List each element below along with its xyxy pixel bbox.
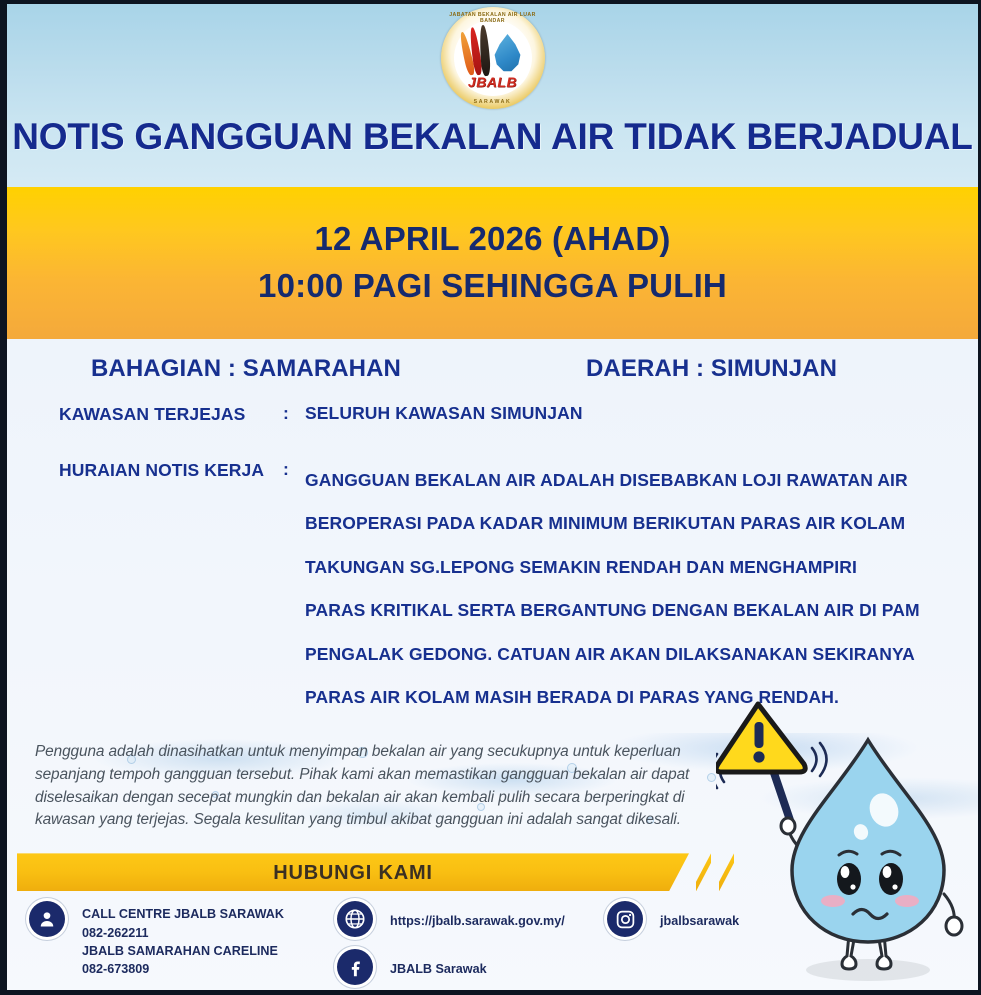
contact-banner-title: HUBUNGI KAMI: [17, 862, 689, 885]
description-line: PARAS AIR KOLAM MASIH BERADA DI PARAS YA…: [305, 676, 920, 719]
contact-website-text[interactable]: https://jbalb.sarawak.gov.my/: [390, 901, 565, 930]
contact-facebook-text[interactable]: JBALB Sarawak: [390, 949, 487, 978]
jbalb-logo: JABATAN BEKALAN AIR LUAR BANDAR JBALB SA…: [441, 7, 545, 109]
call-centre-number: 082-262211: [82, 924, 284, 942]
work-description-label: HURAIAN NOTIS KERJA: [59, 459, 283, 481]
description-line: PENGALAK GEDONG. CATUAN AIR AKAN DILAKSA…: [305, 633, 920, 676]
affected-area-row: KAWASAN TERJEJAS : SELURUH KAWASAN SIMUN…: [7, 391, 978, 425]
notice-date: 12 APRIL 2026 (AHAD): [314, 216, 670, 263]
poster-header: JABATAN BEKALAN AIR LUAR BANDAR JBALB SA…: [7, 4, 978, 187]
work-description-value: GANGGUAN BEKALAN AIR ADALAH DISEBABKAN L…: [305, 459, 920, 719]
water-disruption-notice-poster: JABATAN BEKALAN AIR LUAR BANDAR JBALB SA…: [0, 0, 981, 995]
contact-details: CALL CENTRE JBALB SARAWAK 082-262211 JBA…: [7, 891, 978, 995]
contact-banner: HUBUNGI KAMI: [7, 853, 978, 891]
globe-icon: [337, 901, 373, 937]
advisory-text: Pengguna adalah dinasihatkan untuk menyi…: [35, 741, 725, 832]
careline-number: 082-673809: [82, 960, 284, 978]
area-row: BAHAGIAN : SAMARAHAN DAERAH : SIMUNJAN: [7, 339, 978, 391]
contact-banner-shape: HUBUNGI KAMI: [17, 853, 689, 891]
instagram-icon: [607, 901, 643, 937]
affected-area-value: SELURUH KAWASAN SIMUNJAN: [305, 403, 583, 424]
district-label: DAERAH : SIMUNJAN: [586, 355, 837, 383]
description-line: BEROPERASI PADA KADAR MINIMUM BERIKUTAN …: [305, 502, 920, 545]
careline-name: JBALB SAMARAHAN CARELINE: [82, 942, 284, 960]
page-title: NOTIS GANGGUAN BEKALAN AIR TIDAK BERJADU…: [7, 116, 978, 158]
contact-instagram-block[interactable]: jbalbsarawak: [607, 901, 739, 937]
contact-phone-text: CALL CENTRE JBALB SARAWAK 082-262211 JBA…: [82, 901, 284, 979]
contact-facebook-block[interactable]: JBALB Sarawak: [337, 949, 487, 985]
reference-code: SHAN/26/04/13: [37, 991, 130, 995]
affected-area-label: KAWASAN TERJEJAS: [59, 403, 283, 425]
advisory-zone: Pengguna adalah dinasihatkan untuk menyi…: [7, 733, 978, 851]
description-line: TAKUNGAN SG.LEPONG SEMAKIN RENDAH DAN ME…: [305, 546, 920, 589]
work-description-row: HURAIAN NOTIS KERJA : GANGGUAN BEKALAN A…: [7, 425, 978, 719]
logo-ring-text-top: JABATAN BEKALAN AIR LUAR BANDAR: [441, 12, 545, 24]
description-line: GANGGUAN BEKALAN AIR ADALAH DISEBABKAN L…: [305, 459, 920, 502]
banner-slash-decoration: [719, 853, 734, 891]
date-time-band: 12 APRIL 2026 (AHAD) 10:00 PAGI SEHINGGA…: [7, 187, 978, 339]
banner-slash-decoration: [696, 853, 711, 891]
work-description-colon: :: [283, 459, 305, 480]
notice-body: BAHAGIAN : SAMARAHAN DAERAH : SIMUNJAN K…: [7, 339, 978, 995]
facebook-icon: [337, 949, 373, 985]
contact-website-block[interactable]: https://jbalb.sarawak.gov.my/: [337, 901, 565, 937]
call-centre-name: CALL CENTRE JBALB SARAWAK: [82, 905, 284, 923]
contact-phone-block[interactable]: CALL CENTRE JBALB SARAWAK 082-262211 JBA…: [29, 901, 284, 979]
logo-ring-text-bottom: SARAWAK: [441, 99, 545, 105]
division-label: BAHAGIAN : SAMARAHAN: [91, 355, 401, 383]
description-line: PARAS KRITIKAL SERTA BERGANTUNG DENGAN B…: [305, 589, 920, 632]
notice-time: 10:00 PAGI SEHINGGA PULIH: [258, 263, 727, 310]
person-icon: [29, 901, 65, 937]
contact-instagram-text[interactable]: jbalbsarawak: [660, 901, 739, 930]
logo-wordmark: JBALB: [441, 74, 545, 90]
affected-area-colon: :: [283, 403, 305, 424]
